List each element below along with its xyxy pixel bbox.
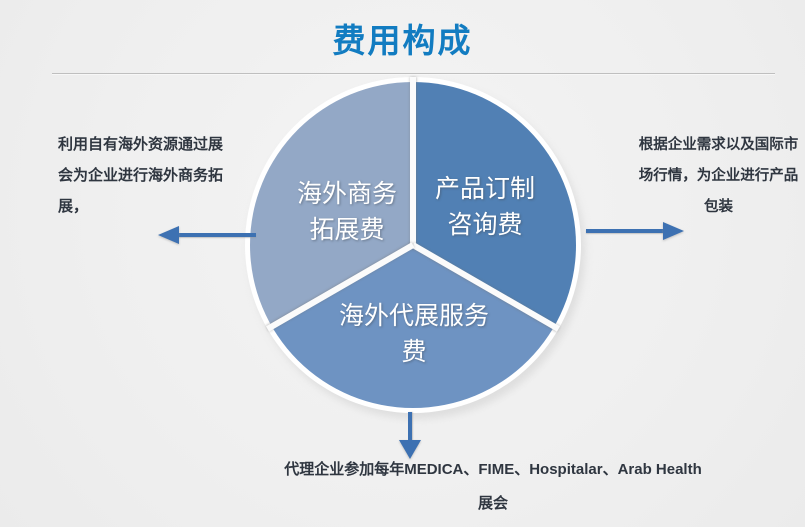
pie-slice-label-overseas-exhibition-service: 海外代展服务费 xyxy=(329,299,499,371)
arrow-left-shaft xyxy=(178,233,256,237)
pie-slice-label-overseas-business-development: 海外商务拓展费 xyxy=(291,177,403,249)
arrow-right-shaft xyxy=(586,229,664,233)
callout-text-bottom: 代理企业参加每年MEDICA、FIME、Hospitalar、Arab Heal… xyxy=(283,453,703,521)
page-title: 费用构成 xyxy=(0,22,805,60)
arrow-left-icon xyxy=(158,226,179,244)
slide-canvas: 费用构成 海外商务拓展费 产品订制咨询费 海外代展服务费 利用自有海外资源通过展… xyxy=(0,0,805,527)
callout-text-left: 利用自有海外资源通过展会为企业进行海外商务拓展， xyxy=(58,130,223,223)
title-divider xyxy=(52,73,775,74)
callout-text-right: 根据企业需求以及国际市场行情，为企业进行产品包装 xyxy=(636,130,801,223)
arrow-right-icon xyxy=(663,222,684,240)
pie-slice-label-product-customization: 产品订制咨询费 xyxy=(429,172,541,244)
pie-chart: 海外商务拓展费 产品订制咨询费 海外代展服务费 xyxy=(245,77,581,413)
pie-separator-top xyxy=(410,77,416,245)
arrow-down-shaft xyxy=(408,412,412,442)
